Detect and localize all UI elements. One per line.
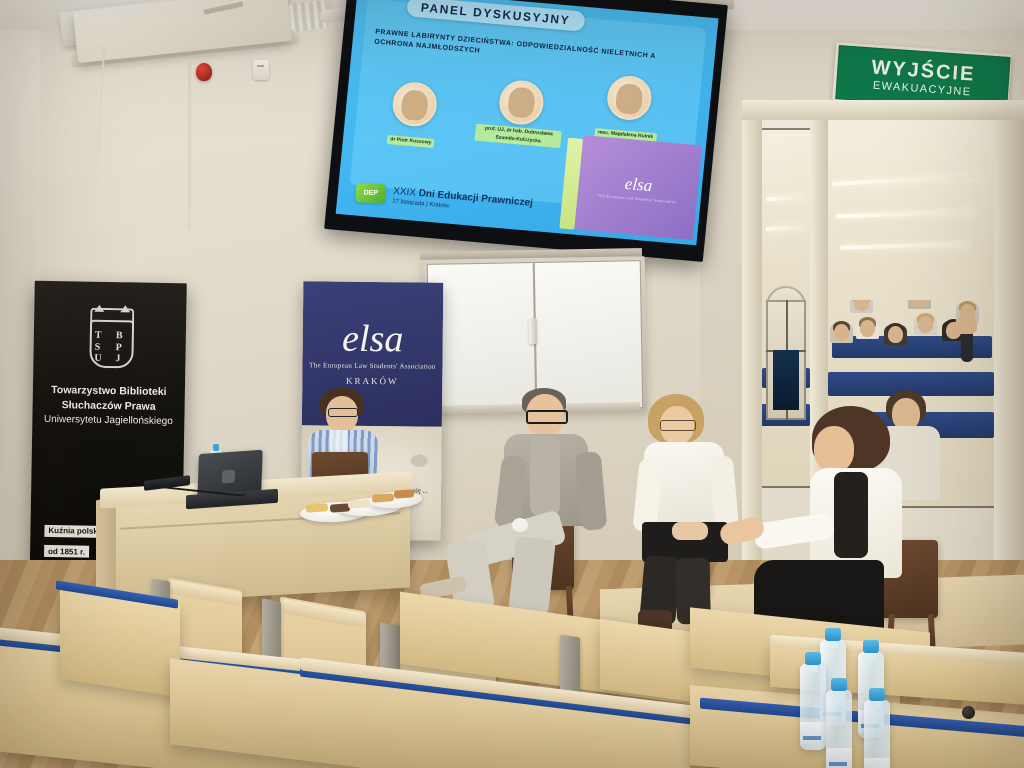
laptop-logo-icon	[222, 470, 235, 484]
crest-letter: T	[95, 330, 102, 341]
snack-item	[372, 493, 395, 503]
tbsp-organisation-name: Towarzystwo Biblioteki Słuchaczów Prawa …	[42, 383, 175, 430]
crest-letter: J	[115, 353, 120, 364]
lectern-side-panel	[96, 496, 116, 601]
audience-person	[860, 320, 879, 339]
elsa-logo: elsa	[342, 322, 404, 357]
smoke-detector-icon	[253, 60, 269, 80]
raised-hand	[955, 318, 979, 360]
crest-letter: U	[94, 353, 101, 364]
lecture-hall-photo: PANEL DYSKUSYJNY PRAWNE LABIRYNTY DZIECI…	[0, 0, 1024, 768]
panelist-portrait-3: mec. Magdalena Rulnik	[582, 73, 674, 145]
panelist-portrait-1: dr Piotr Kossowy	[367, 79, 459, 151]
whiteboard-handle[interactable]	[528, 318, 536, 344]
bench-knob	[962, 706, 975, 719]
snack-item	[306, 503, 329, 513]
water-bottle[interactable]	[800, 664, 826, 750]
partition-frame-header	[742, 100, 1024, 120]
crest-letter: B	[116, 330, 123, 341]
audience-person	[854, 300, 873, 313]
panelist-avatar	[498, 78, 546, 126]
wall-conduit	[188, 60, 191, 230]
presentation-slide: PANEL DYSKUSYJNY PRAWNE LABIRYNTY DZIECI…	[336, 0, 719, 245]
panelist-portrait-2: prof. UJ, dr hab. Dobrosława Szumiło-Kul…	[475, 76, 567, 148]
elsa-tagline: The European Law Students' Association	[309, 362, 436, 371]
crest-letter: P	[116, 342, 122, 353]
snack-item	[394, 489, 415, 498]
dep-logo: DEP	[356, 184, 387, 204]
tbsp-name-line3: Uniwersytetu Jagiellońskiego	[42, 413, 174, 430]
tbsp-tagline-2: od 1851 r.	[44, 545, 89, 558]
slide-sponsor-logo: elsa	[624, 174, 653, 196]
slide-sponsor-subtitle: The European Law Students' Association	[598, 193, 677, 204]
snack-item	[348, 499, 371, 509]
audience-person	[888, 326, 907, 345]
whiteboard-pane-right[interactable]	[534, 260, 644, 410]
panelist-avatar	[390, 80, 438, 128]
event-prefix: XXIX	[393, 186, 417, 199]
dark-window-glass	[773, 350, 799, 410]
audience-person	[912, 300, 931, 309]
slide-sponsor-box: elsa The European Law Students' Associat…	[574, 135, 702, 241]
panelist-name: dr Piotr Kossowy	[387, 135, 435, 148]
fire-alarm-bell-icon	[196, 63, 212, 81]
panelist-avatar	[605, 75, 653, 123]
water-bottle[interactable]	[826, 690, 852, 768]
panelist-name: prof. UJ, dr hab. Dobrosława Szumiło-Kul…	[475, 124, 562, 148]
crest-letter: S	[95, 342, 101, 353]
water-bottle[interactable]	[864, 700, 890, 768]
ac-brand-label	[203, 2, 243, 15]
projection-screen: PANEL DYSKUSYJNY PRAWNE LABIRYNTY DZIECI…	[324, 0, 728, 262]
audience-person	[834, 324, 853, 343]
audience-person	[918, 316, 937, 335]
elsa-city: KRAKÓW	[346, 376, 399, 387]
tbsp-crest-icon: T B S P U J	[83, 306, 136, 369]
